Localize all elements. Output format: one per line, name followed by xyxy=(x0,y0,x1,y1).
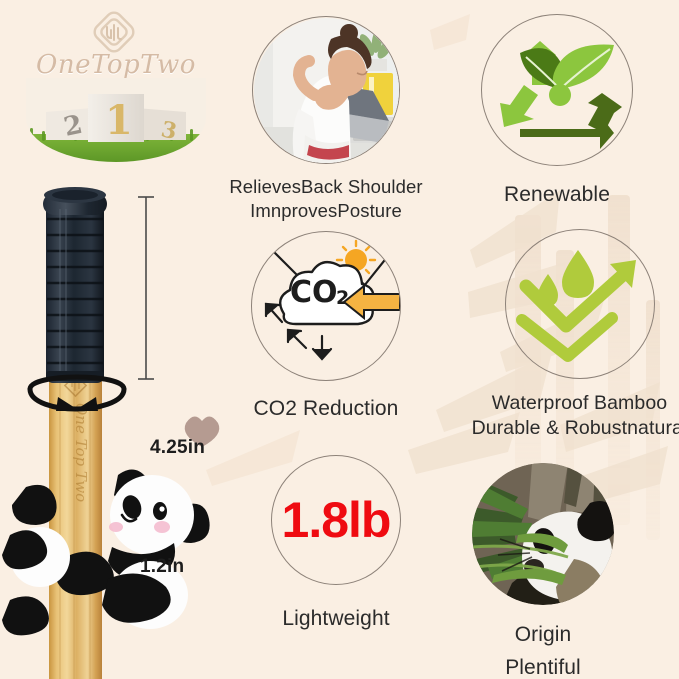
svg-text:1: 1 xyxy=(105,97,133,144)
diameter-dimension-label: 1.2in xyxy=(140,556,184,578)
infographic-canvas: OneTopTwo xyxy=(0,0,679,679)
brand-name: OneTopTwo xyxy=(8,50,224,80)
panda-photo xyxy=(472,463,614,605)
winners-podium-graphic: 2 3 1 xyxy=(26,78,206,162)
renewable-caption: Renewable xyxy=(504,181,610,208)
waterproof-icon xyxy=(505,229,655,379)
feature-waterproof: Waterproof Bamboo Durable & Robustnatura… xyxy=(477,229,679,442)
renewable-caption-line-1: Renewable xyxy=(504,181,610,208)
co2-caption: CO2 Reduction xyxy=(254,395,399,422)
renewable-icon xyxy=(481,14,633,166)
posture-photo xyxy=(252,16,400,164)
co2-icon: CO 2 xyxy=(251,231,401,381)
feature-renewable: Renewable xyxy=(479,14,635,208)
lightweight-caption: Lightweight xyxy=(282,605,389,632)
lightweight-caption-line-1: Lightweight xyxy=(282,605,389,632)
waterproof-caption-line-2: Durable & Robustnatural xyxy=(472,416,679,441)
grip-dimension-label: 4.25in xyxy=(150,437,205,459)
grip-dimension-line xyxy=(138,197,154,379)
waterproof-caption: Waterproof Bamboo Durable & Robustnatura… xyxy=(472,391,679,442)
origin-caption-line-1: Origin xyxy=(505,619,581,652)
posture-caption-line-2: ImnprovesPosture xyxy=(229,199,422,223)
feature-lightweight: 1.8lb Lightweight xyxy=(258,455,414,632)
waterproof-caption-line-1: Waterproof Bamboo xyxy=(472,391,679,416)
pole-graphic: One Top Two xyxy=(0,175,230,679)
feature-origin: Origin Plentiful xyxy=(465,463,621,679)
weight-value: 1.8lb xyxy=(272,456,400,584)
svg-text:CO: CO xyxy=(290,275,338,310)
origin-caption-line-2: Plentiful xyxy=(505,652,581,679)
origin-caption: Origin Plentiful xyxy=(505,619,581,679)
product-illustration: One Top Two xyxy=(0,175,230,679)
svg-text:One Top Two: One Top Two xyxy=(72,403,90,502)
monogram-diamond-icon xyxy=(92,10,136,54)
feature-posture: RelievesBack Shoulder ImnprovesPosture xyxy=(248,16,404,223)
feature-co2: CO 2 CO2 Reduction xyxy=(248,231,404,422)
posture-caption-line-1: RelievesBack Shoulder xyxy=(229,175,422,199)
brand-block: OneTopTwo xyxy=(8,4,224,162)
weight-badge: 1.8lb xyxy=(271,455,401,585)
posture-caption: RelievesBack Shoulder ImnprovesPosture xyxy=(229,175,422,223)
co2-caption-line-1: CO2 Reduction xyxy=(254,395,399,422)
